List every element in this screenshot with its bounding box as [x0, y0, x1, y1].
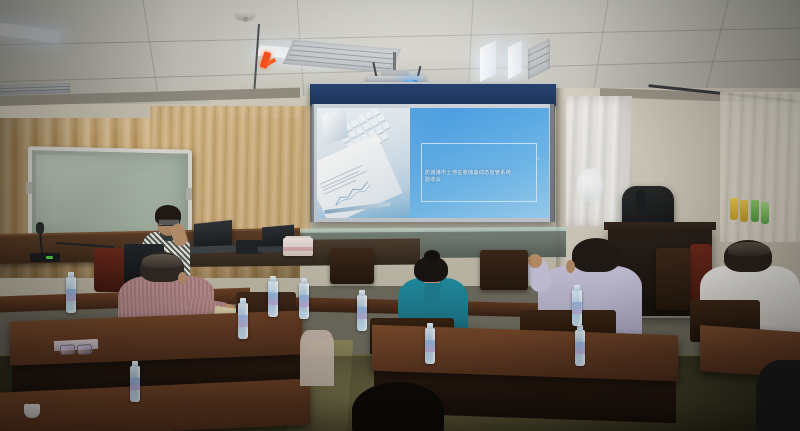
attendee-teal-hair-bun	[424, 250, 440, 262]
attendee-lavender-hand	[528, 254, 542, 268]
chair-brown-right[interactable]	[656, 248, 690, 310]
attendee-lavender-ear	[566, 260, 575, 273]
bottle-label	[66, 289, 76, 301]
whiteboard-glare	[36, 155, 156, 228]
eyeglasses-icon[interactable]	[60, 343, 95, 354]
microphone-icon[interactable]	[36, 222, 44, 234]
drink-bottle-green-2	[761, 202, 769, 224]
person-partial-right	[756, 360, 800, 431]
white-object-right	[577, 168, 603, 202]
microphone-led-icon	[46, 256, 53, 259]
microphone-base[interactable]	[30, 253, 60, 263]
conference-room-photo: 防城港市土地征收储备动态监管系统 验收会 ○:	[0, 0, 800, 431]
water-bottle-5[interactable]	[425, 328, 435, 364]
backpack-strap	[636, 190, 646, 222]
water-bottle-3[interactable]	[268, 281, 278, 317]
water-bottle-1[interactable]	[66, 277, 76, 313]
attendee-notes-ear	[178, 272, 187, 284]
screen-valance	[310, 84, 556, 106]
water-bottle-4[interactable]	[299, 283, 309, 319]
whiteboard-clip-left	[26, 182, 32, 194]
chair-brown-center[interactable]	[480, 250, 528, 290]
bottle-label	[575, 342, 585, 354]
screen-glare	[317, 108, 549, 218]
attendee-white-hair-grey	[728, 242, 770, 256]
bottle-label	[238, 315, 248, 327]
chair-brown-mid[interactable]	[330, 248, 374, 284]
person-partial-left	[300, 330, 334, 386]
bottle-label	[572, 302, 582, 314]
cup-on-floor	[24, 404, 40, 418]
bottle-label	[299, 295, 309, 307]
drink-bottle-yellow-1	[730, 198, 738, 220]
tissue-box-band	[283, 247, 313, 251]
attendee-notes-hair-grey	[142, 254, 182, 268]
drink-bottle-green-1	[751, 200, 759, 222]
screen-edge-right	[550, 104, 555, 222]
water-bottle-9[interactable]	[130, 366, 140, 402]
smoke-detector-stem	[243, 17, 248, 22]
bottle-label	[268, 293, 278, 305]
bottle-label	[130, 378, 140, 390]
bottle-label	[357, 307, 367, 319]
eyeglass-lens-left	[60, 344, 76, 355]
water-bottle-8[interactable]	[357, 295, 367, 331]
attendee-lavender-hair	[572, 238, 620, 272]
person-foreground-head	[352, 382, 444, 431]
water-bottle-7[interactable]	[572, 290, 582, 326]
water-bottle-2[interactable]	[238, 303, 248, 339]
screen-edge-left	[310, 104, 314, 222]
bottle-label	[425, 340, 435, 352]
eyeglass-lens-right	[77, 344, 93, 355]
drink-bottle-yellow-2	[740, 200, 748, 222]
whiteboard-clip-right	[186, 188, 192, 200]
water-bottle-6[interactable]	[575, 330, 585, 366]
